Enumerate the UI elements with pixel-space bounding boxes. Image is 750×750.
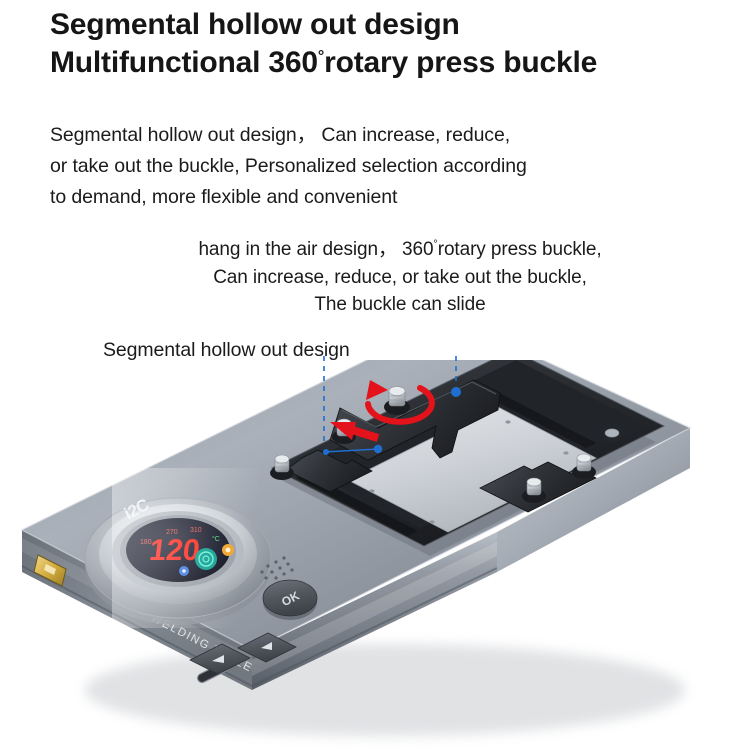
headline-line-2-post: rotary press buckle xyxy=(324,46,597,79)
screen-temperature: 120 xyxy=(148,534,202,567)
headline-line-2-pre: Multifunctional 360 xyxy=(50,46,318,79)
centered-paragraph: hang in the air design， 360°rotary press… xyxy=(145,236,655,319)
screen-unit: °C xyxy=(212,535,220,543)
device-shadow xyxy=(85,644,685,736)
center-line-1-post: rotary press buckle, xyxy=(438,239,602,260)
center-line-2: Can increase, reduce, or take out the bu… xyxy=(145,264,655,292)
screw-far-right[interactable] xyxy=(603,429,621,442)
headline-line-2: Multifunctional 360°rotary press buckle xyxy=(50,44,710,82)
screen-preset-mid: 270 xyxy=(166,529,178,536)
center-line-1: hang in the air design， 360°rotary press… xyxy=(145,236,655,264)
center-line-3: The buckle can slide xyxy=(145,291,655,319)
product-photo: T20 AI WELDING TABLE 120 °C 180 270 310 xyxy=(0,360,750,750)
page-title: Segmental hollow out design Multifunctio… xyxy=(50,6,710,82)
body-line-1: Segmental hollow out design， Can increas… xyxy=(50,120,710,151)
center-line-1-pre: hang in the air design， 360 xyxy=(198,239,433,260)
product-infographic: Segmental hollow out design Multifunctio… xyxy=(0,0,750,750)
body-line-3: to demand, more flexible and convenient xyxy=(50,182,710,213)
headline-line-1: Segmental hollow out design xyxy=(50,6,710,44)
callout-caption-segmental: Segmental hollow out design xyxy=(103,339,350,362)
body-paragraph: Segmental hollow out design， Can increas… xyxy=(50,120,710,213)
screen-preset-low: 180 xyxy=(140,539,152,546)
screen-preset-high: 310 xyxy=(190,527,202,534)
body-line-2: or take out the buckle, Personalized sel… xyxy=(50,151,710,182)
